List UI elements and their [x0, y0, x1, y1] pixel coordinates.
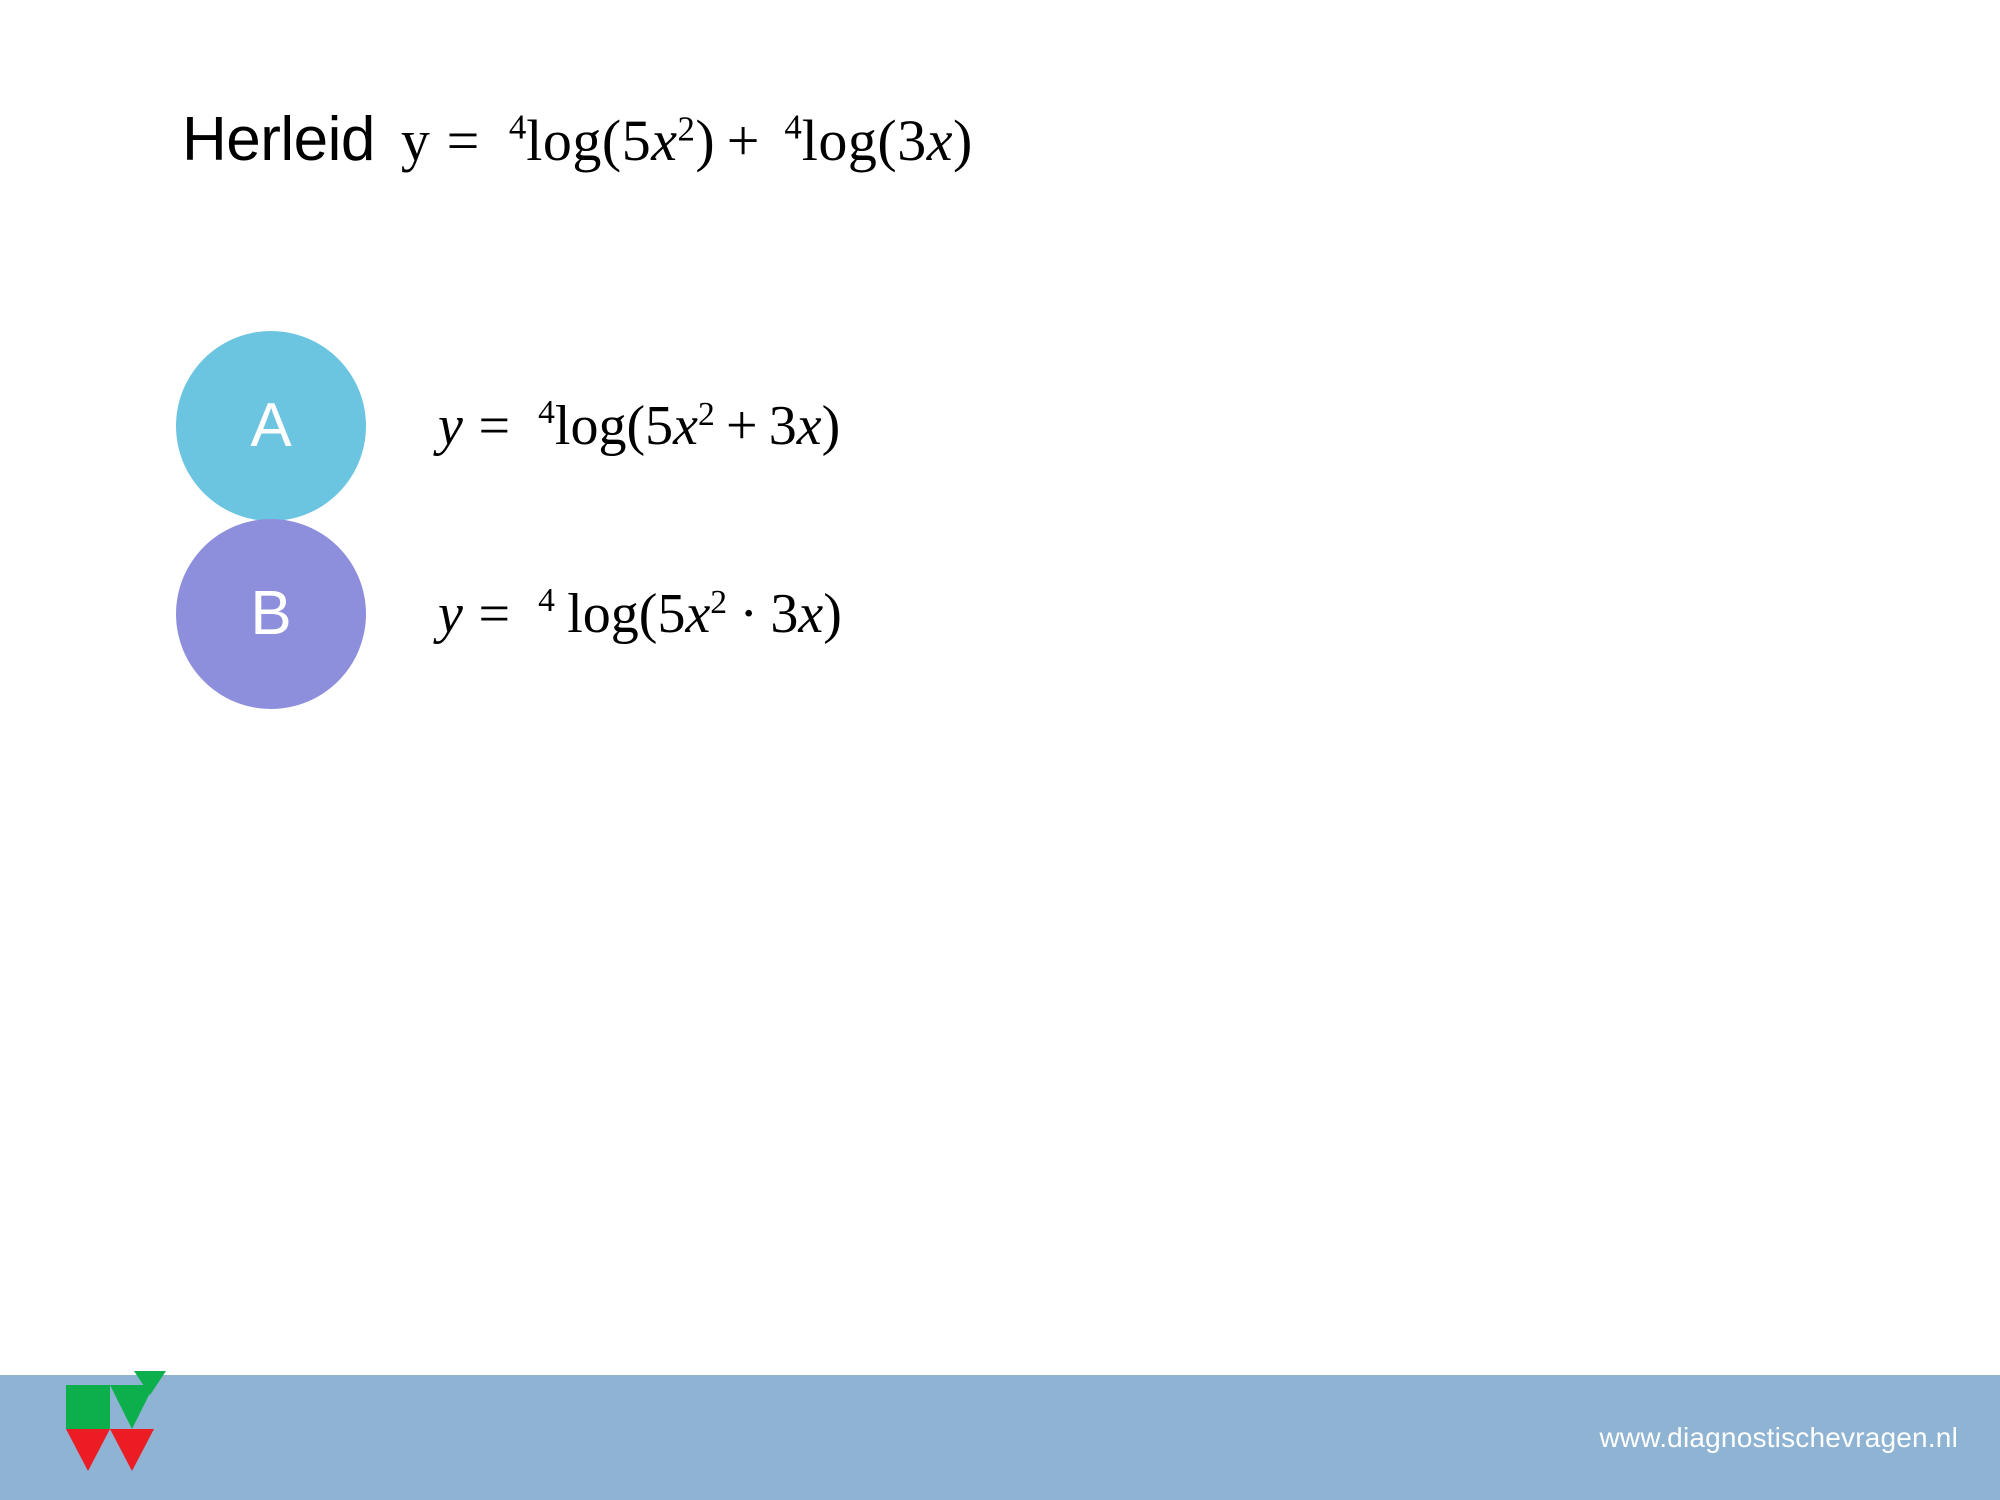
option-a-coef-2: 3	[769, 395, 797, 457]
question-y: y	[401, 108, 431, 173]
option-a-operator: +	[726, 395, 758, 457]
option-b-operator: ·	[739, 583, 758, 645]
option-b-var-2: x	[798, 583, 823, 645]
option-b-equals: =	[479, 583, 511, 645]
footer-bar: www.diagnostischevragen.nl	[0, 1375, 2000, 1500]
question-heading: Herleid y=4log(5x2)+4log(3x)	[182, 104, 973, 175]
option-a-formula: y=4log(5x2+3x)	[438, 394, 840, 458]
question-exponent-1: 2	[677, 110, 695, 149]
question-open-paren: (	[602, 108, 622, 173]
option-b-log-base: 4	[538, 582, 555, 619]
option-a-close-paren: )	[822, 395, 841, 457]
question-log-base: 4	[509, 107, 526, 146]
option-a-y: y	[438, 395, 463, 457]
answer-option-a[interactable]: A y=4log(5x2+3x)	[176, 328, 840, 524]
option-b-close-paren: )	[823, 583, 842, 645]
option-b-var-1: x	[685, 583, 710, 645]
logo-svg	[52, 1359, 170, 1471]
option-a-log-name: log	[555, 395, 627, 457]
question-var-1: x	[651, 108, 677, 173]
option-b-exponent-1: 2	[710, 584, 727, 621]
question-close-paren: )	[695, 108, 715, 173]
question-open-paren-2: (	[877, 108, 897, 173]
option-b-coef-2: 3	[770, 583, 798, 645]
option-b-bubble[interactable]: B	[176, 519, 366, 709]
logo-green-square	[66, 1385, 110, 1429]
option-a-bubble[interactable]: A	[176, 331, 366, 521]
footer-website-url[interactable]: www.diagnostischevragen.nl	[1599, 1422, 1958, 1454]
option-b-letter: B	[250, 583, 291, 645]
option-a-exponent-1: 2	[698, 396, 715, 433]
option-b-open-paren: (	[639, 583, 658, 645]
logo-red-triangle-left	[66, 1429, 110, 1471]
logo-red-triangle-right	[110, 1429, 154, 1471]
option-a-equals: =	[479, 395, 511, 457]
question-coef-1: 5	[622, 108, 652, 173]
option-a-coef-1: 5	[645, 395, 673, 457]
question-log-name: log	[526, 108, 602, 173]
option-b-y: y	[438, 583, 463, 645]
logo-green-triangle	[110, 1385, 154, 1429]
option-a-var-2: x	[797, 395, 822, 457]
question-prompt-word: Herleid	[182, 104, 375, 175]
question-equals: =	[447, 108, 480, 173]
answer-option-b[interactable]: B y=4log(5x2·3x)	[176, 516, 842, 712]
question-var-2: x	[927, 108, 953, 173]
option-b-coef-1: 5	[657, 583, 685, 645]
question-plus-operator: +	[727, 108, 760, 173]
option-a-open-paren: (	[626, 395, 645, 457]
option-b-log-name: log	[567, 583, 639, 645]
option-a-letter: A	[250, 395, 291, 457]
question-log-base-2: 4	[784, 107, 801, 146]
option-a-log-base: 4	[538, 394, 555, 431]
slide-canvas: Herleid y=4log(5x2)+4log(3x) A y=4log(5x…	[0, 0, 2000, 1500]
option-a-var-1: x	[673, 395, 698, 457]
question-formula: y=4log(5x2)+4log(3x)	[401, 107, 973, 174]
question-log-name-2: log	[802, 108, 878, 173]
question-close-paren-2: )	[953, 108, 973, 173]
option-b-formula: y=4log(5x2·3x)	[438, 582, 842, 646]
question-coef-2: 3	[897, 108, 927, 173]
diagnostischevragen-logo-icon	[52, 1359, 170, 1471]
